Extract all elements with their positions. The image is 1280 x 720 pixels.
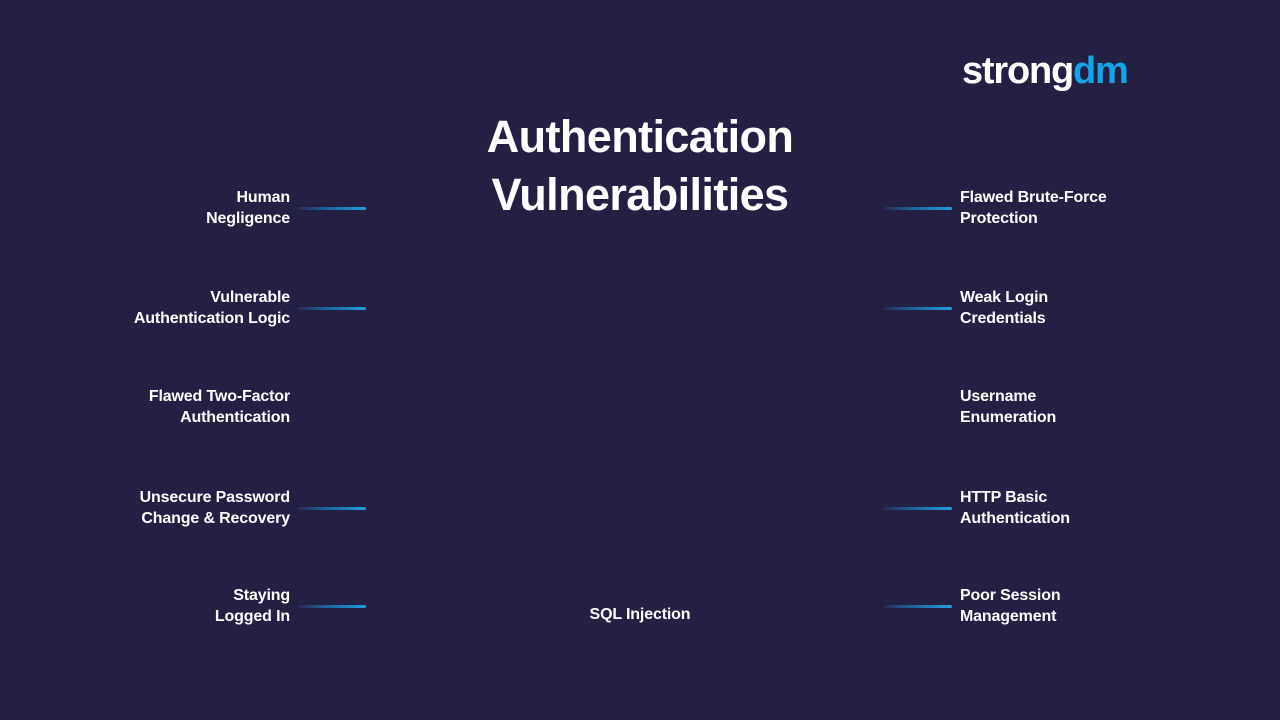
vulnerability-label: HTTP Basic Authentication — [960, 487, 1070, 529]
connector-line-icon — [298, 307, 366, 310]
vulnerability-label: Flawed Two-Factor Authentication — [149, 386, 290, 428]
vulnerability-item-http-basic-authentication: HTTP Basic Authentication — [884, 480, 1070, 536]
vulnerability-label: SQL Injection — [590, 606, 691, 623]
vulnerability-item-staying-logged-in: Staying Logged In — [215, 578, 366, 634]
vulnerability-item-sql-injection: SQL Injection — [440, 606, 840, 624]
page-title: Authentication Vulnerabilities — [340, 108, 940, 223]
logo-word-strong: strong — [962, 50, 1073, 92]
vulnerability-label: Flawed Brute-Force Protection — [960, 187, 1107, 229]
connector-line-icon — [884, 507, 952, 510]
slide-canvas: strongdm Authentication Vulnerabilities … — [0, 0, 1280, 720]
vulnerability-label: Staying Logged In — [215, 585, 290, 627]
connector-line-icon — [298, 207, 366, 210]
vulnerability-item-username-enumeration: Username Enumeration — [884, 379, 1056, 435]
logo-word-dm: dm — [1073, 50, 1128, 92]
vulnerability-item-vulnerable-authentication-logic: Vulnerable Authentication Logic — [134, 280, 366, 336]
connector-line-icon — [884, 605, 952, 608]
vulnerability-item-flawed-two-factor-authentication: Flawed Two-Factor Authentication — [149, 379, 366, 435]
vulnerability-item-human-negligence: Human Negligence — [206, 180, 366, 236]
strongdm-logo: strongdm — [962, 52, 1128, 90]
page-title-line-1: Authentication — [340, 108, 940, 166]
vulnerability-item-unsecure-password-change-and-recovery: Unsecure Password Change & Recovery — [140, 480, 366, 536]
vulnerability-item-weak-login-credentials: Weak Login Credentials — [884, 280, 1048, 336]
vulnerability-label: Human Negligence — [206, 187, 290, 229]
vulnerability-item-poor-session-management: Poor Session Management — [884, 578, 1060, 634]
vulnerability-item-flawed-brute-force-protection: Flawed Brute-Force Protection — [884, 180, 1107, 236]
vulnerability-label: Poor Session Management — [960, 585, 1060, 627]
connector-line-icon — [884, 207, 952, 210]
vulnerability-label: Unsecure Password Change & Recovery — [140, 487, 290, 529]
page-title-line-2: Vulnerabilities — [340, 166, 940, 224]
connector-line-icon — [298, 507, 366, 510]
connector-line-icon — [298, 605, 366, 608]
vulnerability-label: Weak Login Credentials — [960, 287, 1048, 329]
vulnerability-label: Vulnerable Authentication Logic — [134, 287, 290, 329]
connector-line-icon — [884, 307, 952, 310]
vulnerability-label: Username Enumeration — [960, 386, 1056, 428]
